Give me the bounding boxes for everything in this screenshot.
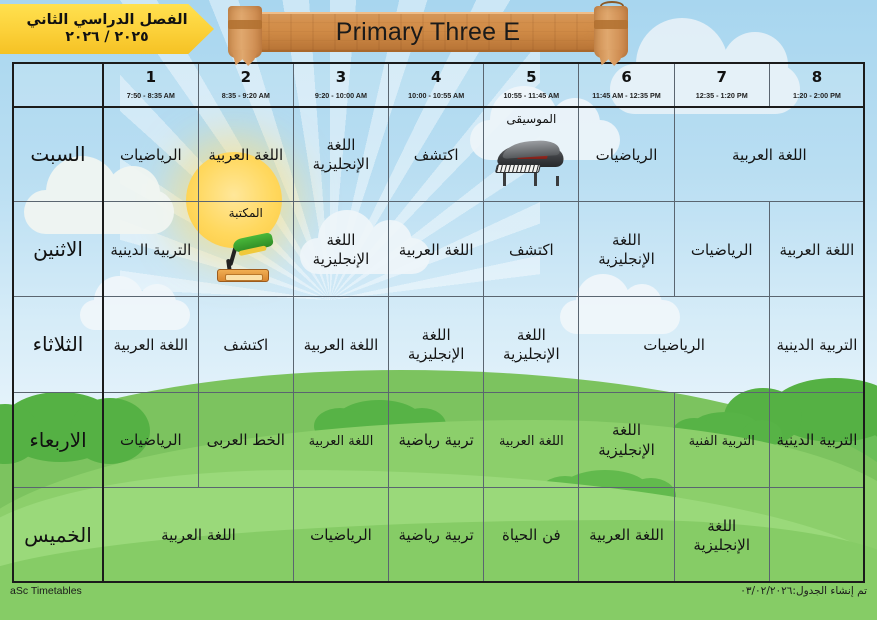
period-header-7: 7 12:35 - 1:20 PM xyxy=(674,63,769,107)
lesson-cell[interactable]: تربية رياضية xyxy=(389,392,484,487)
post-band xyxy=(594,20,628,29)
subject-label: اكتشف xyxy=(223,336,268,354)
lesson-cell[interactable]: اللغة العربية xyxy=(293,392,388,487)
period-time: 12:35 - 1:20 PM xyxy=(677,91,767,100)
lesson-cell[interactable]: الرياضيات xyxy=(674,202,769,297)
subject-label: اللغة الإنجليزية xyxy=(598,421,655,458)
lesson-cell[interactable]: الخط العربى xyxy=(198,392,293,487)
lesson-cell-music[interactable]: الموسيقى xyxy=(484,107,579,202)
table-row: اللغة الإنجليزية اللغة العربية فن الحياة… xyxy=(13,487,865,582)
subject-label: اللغة العربية xyxy=(589,526,664,544)
subject-label: الخط العربى xyxy=(207,431,285,449)
day-label: السبت xyxy=(30,142,85,166)
lesson-cell[interactable]: اللغة الإنجليزية xyxy=(579,392,674,487)
day-column-header xyxy=(13,63,103,107)
subject-label: اللغة الإنجليزية xyxy=(408,326,465,363)
subject-label: المكتبة xyxy=(199,206,293,220)
period-time: 10:55 - 11:45 AM xyxy=(486,91,576,100)
lesson-cell[interactable]: اللغة الإنجليزية xyxy=(579,202,674,297)
period-number: 8 xyxy=(772,69,862,86)
period-header-row: 8 1:20 - 2:00 PM 7 12:35 - 1:20 PM 6 11:… xyxy=(13,63,865,107)
semester-banner: الفصل الدراسي الثاني ٢٠٢٥ / ٢٠٢٦ xyxy=(0,4,214,54)
subject-label: اللغة العربية xyxy=(732,146,807,164)
period-number: 3 xyxy=(296,69,386,86)
period-number: 1 xyxy=(106,69,196,86)
subject-label: اللغة العربية xyxy=(113,336,188,354)
lesson-cell[interactable]: اللغة العربية xyxy=(103,297,198,392)
subject-label: الرياضيات xyxy=(691,241,753,259)
period-header-6: 6 11:45 AM - 12:35 PM xyxy=(579,63,674,107)
period-time: 1:20 - 2:00 PM xyxy=(772,91,862,100)
period-header-4: 4 10:00 - 10:55 AM xyxy=(389,63,484,107)
subject-label: التربية الدينية xyxy=(776,336,857,354)
title-plank: Primary Three E xyxy=(246,12,610,52)
period-time: 7:50 - 8:35 AM xyxy=(106,91,196,100)
day-cell-tuesday: الثلاثاء xyxy=(13,297,103,392)
period-time: 8:35 - 9:20 AM xyxy=(201,91,291,100)
day-cell-thursday: الخميس xyxy=(13,487,103,582)
subject-label: فن الحياة xyxy=(502,526,561,544)
timetable: 8 1:20 - 2:00 PM 7 12:35 - 1:20 PM 6 11:… xyxy=(12,62,865,583)
lesson-cell-empty[interactable] xyxy=(769,487,864,582)
period-time: 10:00 - 10:55 AM xyxy=(391,91,481,100)
table-row: اللغة العربية الرياضيات الموسيقى xyxy=(13,107,865,202)
lesson-cell[interactable]: اللغة العربية xyxy=(198,107,293,202)
day-label: الخميس xyxy=(24,523,92,547)
subject-label: اللغة العربية xyxy=(499,434,564,449)
page-footer: aSc Timetables تم إنشاء الجدول:٠٣/٠٢/٢٠٢… xyxy=(0,583,877,620)
subject-label: اللغة العربية xyxy=(309,434,374,449)
semester-year: ٢٠٢٥ / ٢٠٢٦ xyxy=(65,29,148,46)
lesson-cell[interactable]: الرياضيات xyxy=(579,297,769,392)
post-band xyxy=(228,20,262,29)
lesson-cell[interactable]: اكتشف xyxy=(198,297,293,392)
lesson-cell[interactable]: التربية الدينية xyxy=(103,202,198,297)
day-label: الثلاثاء xyxy=(33,332,84,356)
day-cell-saturday: السبت xyxy=(13,107,103,202)
period-header-2: 2 8:35 - 9:20 AM xyxy=(198,63,293,107)
period-number: 4 xyxy=(391,69,481,86)
day-cell-wednesday: الاربعاء xyxy=(13,392,103,487)
subject-label: اللغة العربية xyxy=(208,146,283,164)
day-label: الاثنين xyxy=(33,237,83,261)
subject-label: اللغة الإنجليزية xyxy=(313,231,370,268)
lesson-cell[interactable]: الرياضيات xyxy=(103,392,198,487)
subject-label: التربية الفنية xyxy=(689,434,755,449)
timetable-header-row: 8 1:20 - 2:00 PM 7 12:35 - 1:20 PM 6 11:… xyxy=(13,63,865,107)
period-header-1: 1 7:50 - 8:35 AM xyxy=(103,63,198,107)
table-row: التربية الدينية التربية الفنية اللغة الإ… xyxy=(13,392,865,487)
lesson-cell[interactable]: اللغة الإنجليزية xyxy=(293,202,388,297)
subject-label: اللغة الإنجليزية xyxy=(503,326,560,363)
day-label: الاربعاء xyxy=(29,428,86,452)
page-header: الفصل الدراسي الثاني ٢٠٢٥ / ٢٠٢٦ Primary… xyxy=(0,0,877,62)
subject-label: اللغة الإنجليزية xyxy=(313,136,370,173)
period-header-8: 8 1:20 - 2:00 PM xyxy=(769,63,864,107)
subject-label: الرياضيات xyxy=(120,146,182,164)
lamp-icon xyxy=(199,234,293,286)
lesson-cell[interactable]: اللغة العربية xyxy=(293,297,388,392)
timetable-body: اللغة العربية الرياضيات الموسيقى xyxy=(13,107,865,583)
period-number: 5 xyxy=(486,69,576,86)
lesson-cell[interactable]: اللغة العربية xyxy=(484,392,579,487)
table-row: اللغة العربية الرياضيات اللغة الإنجليزية… xyxy=(13,202,865,297)
period-time: 9:20 - 10:00 AM xyxy=(296,91,386,100)
page-title: Primary Three E xyxy=(336,18,521,47)
title-signboard: Primary Three E xyxy=(228,6,628,54)
timetable-container: 8 1:20 - 2:00 PM 7 12:35 - 1:20 PM 6 11:… xyxy=(12,62,865,583)
piano-icon xyxy=(484,139,578,191)
lesson-cell[interactable]: اللغة الإنجليزية xyxy=(674,487,769,582)
period-header-3: 3 9:20 - 10:00 AM xyxy=(293,63,388,107)
subject-label: اكتشف xyxy=(414,146,459,164)
subject-label: اللغة الإنجليزية xyxy=(598,231,655,268)
lesson-cell[interactable]: الرياضيات xyxy=(293,487,388,582)
lesson-cell[interactable]: اللغة العربية xyxy=(769,202,864,297)
subject-label: الرياضيات xyxy=(596,146,658,164)
lesson-cell[interactable]: اللغة العربية xyxy=(103,487,293,582)
subject-label: اللغة العربية xyxy=(399,241,474,259)
lesson-cell[interactable]: اللغة العربية xyxy=(389,202,484,297)
subject-label: الرياضيات xyxy=(310,526,372,544)
day-cell-monday: الاثنين xyxy=(13,202,103,297)
subject-label: اللغة الإنجليزية xyxy=(693,517,750,554)
period-number: 6 xyxy=(581,69,671,86)
lesson-cell[interactable]: التربية الدينية xyxy=(769,297,864,392)
lesson-cell[interactable]: اللغة الإنجليزية xyxy=(293,107,388,202)
app-credit-label: aSc Timetables xyxy=(10,585,82,597)
lesson-cell[interactable]: اللغة العربية xyxy=(674,107,864,202)
sign-post-left xyxy=(228,6,262,58)
table-row: التربية الدينية الرياضيات اللغة الإنجليز… xyxy=(13,297,865,392)
semester-label: الفصل الدراسي الثاني xyxy=(26,12,187,29)
subject-label: تربية رياضية xyxy=(399,431,474,449)
lesson-cell[interactable]: الرياضيات xyxy=(103,107,198,202)
subject-label: التربية الدينية xyxy=(110,241,191,259)
subject-label: اكتشف xyxy=(509,241,554,259)
lesson-cell[interactable]: فن الحياة xyxy=(484,487,579,582)
subject-label: اللغة العربية xyxy=(304,336,379,354)
lesson-cell[interactable]: اللغة العربية xyxy=(579,487,674,582)
subject-label: اللغة العربية xyxy=(780,241,855,259)
period-number: 7 xyxy=(677,69,767,86)
period-number: 2 xyxy=(201,69,291,86)
subject-label: تربية رياضية xyxy=(399,526,474,544)
lesson-cell[interactable]: التربية الفنية xyxy=(674,392,769,487)
lesson-cell[interactable]: اللغة الإنجليزية xyxy=(389,297,484,392)
lesson-cell[interactable]: تربية رياضية xyxy=(389,487,484,582)
lesson-cell[interactable]: اكتشف xyxy=(389,107,484,202)
period-header-5: 5 10:55 - 11:45 AM xyxy=(484,63,579,107)
subject-label: الرياضيات xyxy=(120,431,182,449)
lesson-cell[interactable]: التربية الدينية xyxy=(769,392,864,487)
lesson-cell[interactable]: اللغة الإنجليزية xyxy=(484,297,579,392)
lesson-cell[interactable]: الرياضيات xyxy=(579,107,674,202)
generated-date-label: تم إنشاء الجدول:٠٣/٠٢/٢٠٢٦ xyxy=(740,585,867,597)
period-time: 11:45 AM - 12:35 PM xyxy=(581,91,671,100)
subject-label: الرياضيات xyxy=(643,336,705,354)
sign-post-right xyxy=(594,6,628,58)
subject-label: اللغة العربية xyxy=(161,526,236,544)
subject-label: التربية الدينية xyxy=(776,431,857,449)
lesson-cell[interactable]: اكتشف xyxy=(484,202,579,297)
lesson-cell-library[interactable]: المكتبة xyxy=(198,202,293,297)
subject-label: الموسيقى xyxy=(484,112,578,126)
